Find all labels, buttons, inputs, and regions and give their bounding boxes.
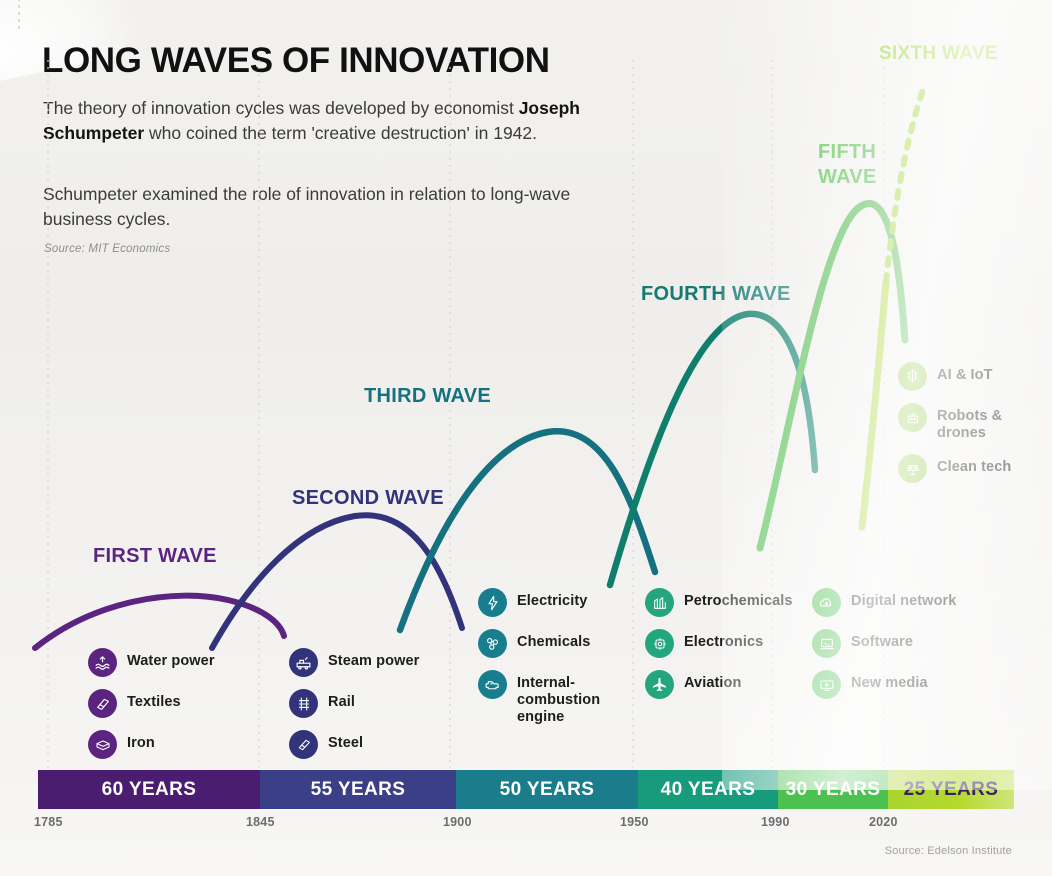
year-tick-2020: 2020 <box>869 815 898 829</box>
list-item[interactable]: Clean tech <box>898 454 1015 483</box>
list-item[interactable]: Rail <box>289 689 419 718</box>
list-item[interactable]: New media <box>812 670 956 699</box>
items-second-wave: Steam power Rail Steel <box>289 648 419 771</box>
wave-label-sixth: SIXTH WAVE <box>879 44 998 63</box>
intro-text-a: The theory of innovation cycles was deve… <box>43 98 519 118</box>
list-item-label: New media <box>851 670 928 692</box>
page-edge-dots <box>18 0 20 30</box>
list-item-label: Internal-combustion engine <box>517 670 613 726</box>
list-item[interactable]: Digital network <box>812 588 956 617</box>
list-item[interactable]: Electronics <box>645 629 793 658</box>
duration-segment-fifth[interactable]: 30 YEARS <box>778 770 888 809</box>
engine-icon <box>478 670 507 699</box>
list-item-label: Water power <box>127 648 215 670</box>
electricity-icon <box>478 588 507 617</box>
list-item[interactable]: Chemicals <box>478 629 613 658</box>
list-item[interactable]: Software <box>812 629 956 658</box>
list-item[interactable]: Petrochemicals <box>645 588 793 617</box>
source-edelson: Source: Edelson Institute <box>885 845 1012 857</box>
year-axis: 1785 1845 1900 1950 1990 2020 <box>0 815 1052 835</box>
clean-tech-icon <box>898 454 927 483</box>
wave-curve-sixth-stem <box>862 282 886 527</box>
rail-icon <box>289 689 318 718</box>
list-item[interactable]: Water power <box>88 648 215 677</box>
list-item-label: Chemicals <box>517 629 590 651</box>
intro-text-c: who coined the term 'creative destructio… <box>144 123 537 143</box>
list-item-label: Robots & drones <box>937 403 1015 442</box>
steel-icon <box>289 730 318 759</box>
aviation-icon <box>645 670 674 699</box>
chemicals-icon <box>478 629 507 658</box>
wave-label-first: FIRST WAVE <box>93 546 217 566</box>
list-item-label: Rail <box>328 689 355 711</box>
list-item[interactable]: Textiles <box>88 689 215 718</box>
list-item[interactable]: Aviation <box>645 670 793 699</box>
wave-curve-sixth-dashed <box>886 84 925 282</box>
software-icon <box>812 629 841 658</box>
year-tick-1845: 1845 <box>246 815 275 829</box>
list-item[interactable]: Robots & drones <box>898 403 1015 442</box>
year-tick-1990: 1990 <box>761 815 790 829</box>
list-item[interactable]: Internal-combustion engine <box>478 670 613 726</box>
list-item-label: Software <box>851 629 913 651</box>
items-third-wave: Electricity Chemicals Internal-combustio… <box>478 588 613 738</box>
list-item-label: Electricity <box>517 588 587 610</box>
textiles-icon <box>88 689 117 718</box>
list-item-label: Textiles <box>127 689 181 711</box>
iron-icon <box>88 730 117 759</box>
list-item-label: Aviation <box>684 670 741 692</box>
list-item-label: Steel <box>328 730 363 752</box>
wave-curve-fifth <box>760 203 905 548</box>
steam-power-icon <box>289 648 318 677</box>
ai-iot-icon <box>898 362 927 391</box>
list-item-label: Petrochemicals <box>684 588 793 610</box>
items-fourth-wave: Petrochemicals Electronics Aviation <box>645 588 793 711</box>
robots-drones-icon <box>898 403 927 432</box>
list-item[interactable]: AI & IoT <box>898 362 1015 391</box>
digital-network-icon <box>812 588 841 617</box>
robots-label-text: Robots & drones <box>937 408 1002 441</box>
list-item-label: AI & IoT <box>937 362 993 384</box>
duration-segment-sixth[interactable]: 25 YEARS <box>888 770 1014 809</box>
wave-label-fifth-line1: FIFTH <box>818 142 876 162</box>
new-media-icon <box>812 670 841 699</box>
intro-paragraph-2: Schumpeter examined the role of innovati… <box>43 182 583 232</box>
intro-paragraph-1: The theory of innovation cycles was deve… <box>43 96 583 146</box>
list-item[interactable]: Steel <box>289 730 419 759</box>
infographic-page: LONG WAVES OF INNOVATION The theory of i… <box>0 0 1052 876</box>
duration-segment-fourth[interactable]: 40 YEARS <box>638 770 778 809</box>
source-mit: Source: MIT Economics <box>44 243 170 255</box>
electronics-icon <box>645 629 674 658</box>
wave-label-fourth: FOURTH WAVE <box>641 284 791 304</box>
engine-label-text: Internal-combustion engine <box>517 675 600 725</box>
list-item[interactable]: Electricity <box>478 588 613 617</box>
year-tick-1785: 1785 <box>34 815 63 829</box>
list-item-label: Steam power <box>328 648 419 670</box>
duration-bar: 60 YEARS 55 YEARS 50 YEARS 40 YEARS 30 Y… <box>38 770 1014 809</box>
duration-segment-second[interactable]: 55 YEARS <box>260 770 456 809</box>
duration-segment-first[interactable]: 60 YEARS <box>38 770 260 809</box>
list-item[interactable]: Steam power <box>289 648 419 677</box>
list-item-label: Iron <box>127 730 155 752</box>
year-tick-1950: 1950 <box>620 815 649 829</box>
items-sixth-wave: AI & IoT Robots & drones Clean tech <box>898 362 1015 495</box>
duration-segment-third[interactable]: 50 YEARS <box>456 770 638 809</box>
wave-label-fifth-line2: WAVE <box>818 167 877 187</box>
list-item-label: Digital network <box>851 588 956 610</box>
list-item-label: Clean tech <box>937 454 1011 476</box>
list-item-label: Electronics <box>684 629 763 651</box>
wave-label-second: SECOND WAVE <box>292 488 444 508</box>
items-first-wave: Water power Textiles Iron <box>88 648 215 771</box>
water-power-icon <box>88 648 117 677</box>
wave-curve-fourth <box>610 314 815 585</box>
wave-curve-first <box>35 596 284 648</box>
petrochemicals-icon <box>645 588 674 617</box>
wave-label-third: THIRD WAVE <box>364 386 491 406</box>
page-title: LONG WAVES OF INNOVATION <box>42 41 550 81</box>
year-tick-1900: 1900 <box>443 815 472 829</box>
wave-curve-second <box>212 515 462 648</box>
list-item[interactable]: Iron <box>88 730 215 759</box>
items-fifth-wave: Digital network Software New media <box>812 588 956 711</box>
